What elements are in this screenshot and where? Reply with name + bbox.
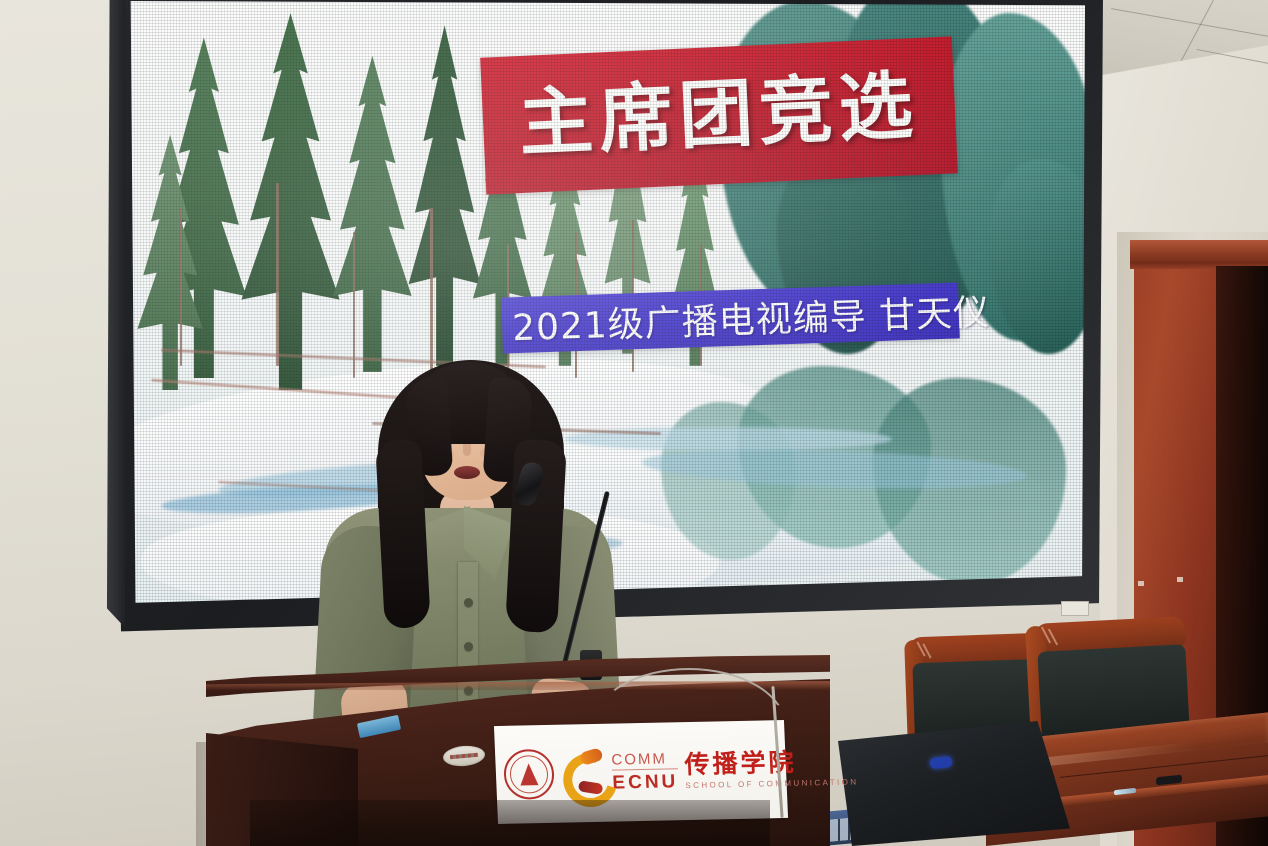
org-name-cn: 传播学院 — [684, 748, 858, 777]
screen-bezel-edge — [103, 0, 125, 634]
door-mark — [1177, 577, 1183, 582]
org-name-block: 传播学院 SCHOOL OF COMMUNICATION — [684, 748, 859, 790]
seal-tree-icon — [520, 763, 539, 785]
presentation-photo: 主席团竞选 2021级广播电视编导 甘天仪 — [0, 0, 1268, 846]
ecnu-seal-icon — [503, 749, 555, 800]
foreground-shadow — [250, 800, 770, 846]
brand-comm-label: COMM — [611, 751, 678, 770]
slide-title: 主席团竞选 — [518, 69, 921, 161]
door-mark — [1138, 581, 1144, 586]
comm-c-logo-icon — [560, 749, 606, 798]
slide-title-banner: 主席团竞选 — [480, 36, 958, 194]
shirt-button — [464, 598, 473, 607]
mouth — [454, 466, 480, 479]
hair-strand-left — [375, 439, 431, 629]
brand-lockup: COMM ECNU — [611, 751, 679, 792]
laptop-lid[interactable] — [838, 721, 1070, 846]
screen-label-sticker — [1061, 601, 1089, 616]
tree-trunk — [180, 208, 182, 366]
shirt-button — [464, 642, 473, 651]
door-header-trim — [1130, 240, 1268, 262]
tree-trunk — [276, 183, 279, 365]
brand-ecnu-label: ECNU — [612, 769, 679, 792]
